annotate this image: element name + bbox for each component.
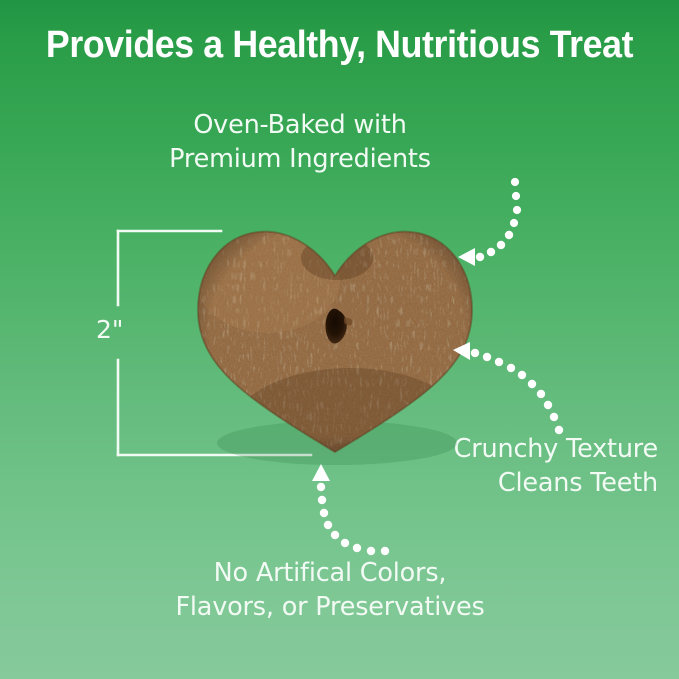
arrow-oven-baked <box>458 178 521 266</box>
arrow-crunchy-texture <box>453 342 563 434</box>
heart-biscuit <box>190 220 485 492</box>
product-infographic: Provides a Healthy, Nutritious Treat Ove… <box>0 0 679 679</box>
graphics-overlay <box>0 0 679 679</box>
arrowhead-no-artificial <box>312 464 330 481</box>
arrow-no-artificial <box>312 464 389 555</box>
